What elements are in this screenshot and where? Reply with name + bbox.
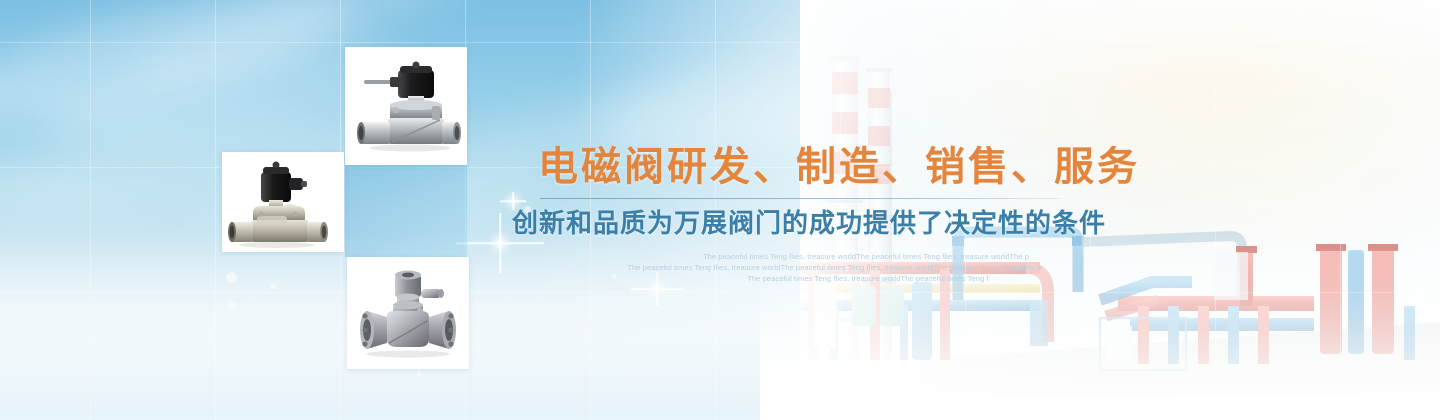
flange-right xyxy=(429,311,456,349)
flanged-solenoid-valve-icon xyxy=(351,261,465,365)
blurb-line: The peaceful times Teng flies, treasure … xyxy=(578,262,1092,273)
banner-copy: 电磁阀研发、制造、销售、服务 创新和品质为万展阀门的成功提供了决定性的条件 Th… xyxy=(512,146,1112,284)
product-thumbnail-1[interactable] xyxy=(345,47,467,165)
hero-banner: 电磁阀研发、制造、销售、服务 创新和品质为万展阀门的成功提供了决定性的条件 Th… xyxy=(0,0,1440,420)
product-panel-group xyxy=(0,0,480,420)
banner-subheadline: 创新和品质为万展阀门的成功提供了决定性的条件 xyxy=(512,208,1112,239)
accent-tile xyxy=(345,165,467,257)
threaded-solenoid-valve-side-icon xyxy=(350,52,462,160)
blurb-line: The peaceful times Teng flies, treasure … xyxy=(644,273,1092,284)
blurb-line: The peaceful times Teng flies, treasure … xyxy=(640,251,1092,262)
product-thumbnail-3[interactable] xyxy=(347,257,469,369)
headline-divider xyxy=(540,198,1060,199)
product-thumbnail-2[interactable] xyxy=(222,152,344,252)
flange-left xyxy=(360,311,387,349)
threaded-solenoid-valve-angled-icon xyxy=(227,156,339,248)
banner-headline: 电磁阀研发、制造、销售、服务 xyxy=(512,146,1112,189)
banner-blurb: The peaceful times Teng flies, treasure … xyxy=(622,251,1092,284)
